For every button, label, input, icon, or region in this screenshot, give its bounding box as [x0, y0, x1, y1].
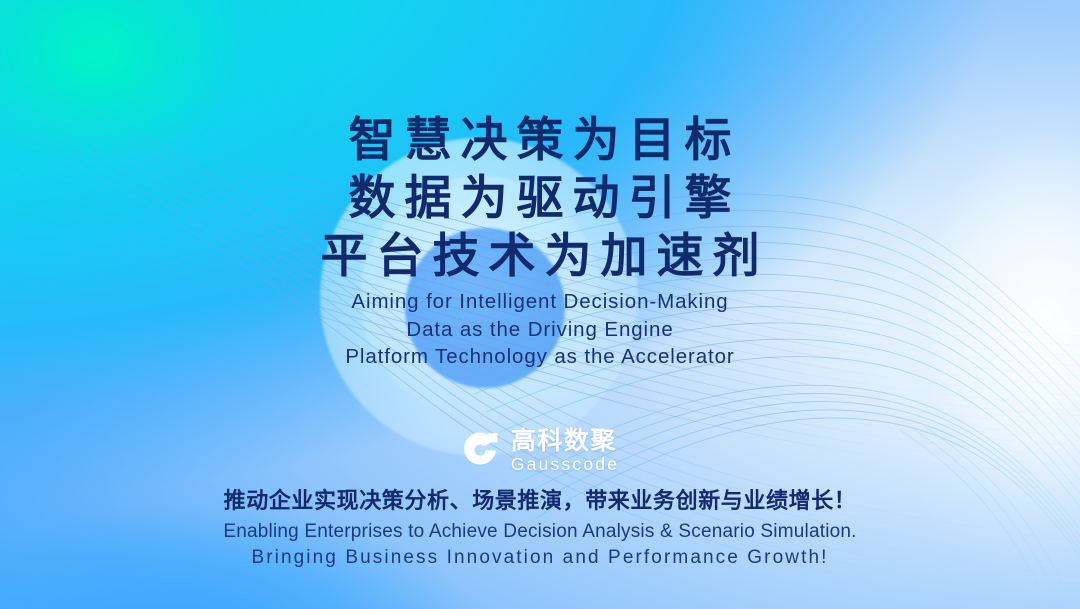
brand-logo-text: 高科数聚 Gausscode — [511, 428, 619, 474]
subheadline-line-2: Data as the Driving Engine — [0, 316, 1080, 344]
poster-content: 智慧决策为目标 数据为驱动引擎 平台技术为加速剂 Aiming for Inte… — [0, 0, 1080, 609]
brand-name-cn: 高科数聚 — [511, 428, 619, 453]
poster-canvas: 智慧决策为目标 数据为驱动引擎 平台技术为加速剂 Aiming for Inte… — [0, 0, 1080, 609]
tagline-english-line-1: Enabling Enterprises to Achieve Decision… — [0, 519, 1080, 545]
tagline-english-block: Enabling Enterprises to Achieve Decision… — [0, 519, 1080, 571]
headline-line-2: 数据为驱动引擎 — [0, 170, 1080, 228]
gausscode-ring-icon — [461, 431, 500, 470]
brand-name-en: Gausscode — [511, 456, 619, 474]
headline-line-3: 平台技术为加速剂 — [0, 228, 1080, 286]
subheadline-block: Aiming for Intelligent Decision-Making D… — [0, 288, 1080, 371]
subheadline-line-3: Platform Technology as the Accelerator — [0, 343, 1080, 371]
headline-block: 智慧决策为目标 数据为驱动引擎 平台技术为加速剂 — [0, 112, 1080, 286]
headline-line-1: 智慧决策为目标 — [0, 112, 1080, 170]
tagline-chinese: 推动企业实现决策分析、场景推演，带来业务创新与业绩增长！ — [0, 483, 1080, 515]
brand-logo: 高科数聚 Gausscode — [0, 428, 1080, 474]
subheadline-line-1: Aiming for Intelligent Decision-Making — [0, 288, 1080, 316]
tagline-english-line-2: Bringing Business Innovation and Perform… — [0, 545, 1080, 571]
